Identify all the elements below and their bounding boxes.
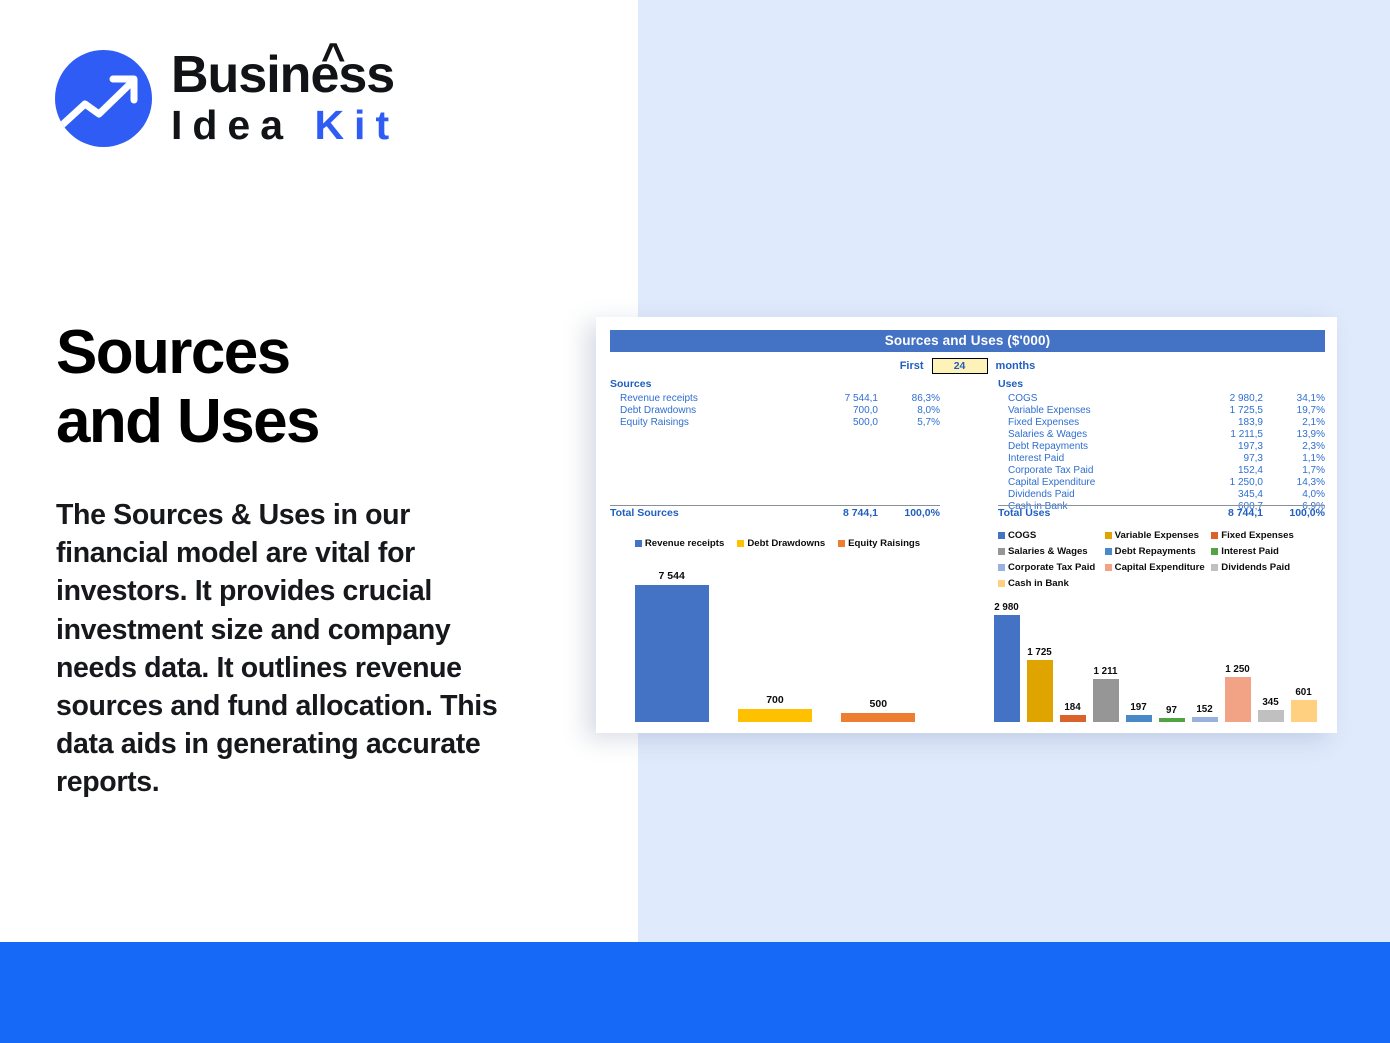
table-row: COGS2 980,234,1% xyxy=(998,393,1325,405)
bar[interactable] xyxy=(1258,710,1284,722)
sources-bars: 7 544700500 xyxy=(620,566,930,722)
bar-value-label: 2 980 xyxy=(994,602,1019,613)
brand-wordmark: Business ^ Idea Kit xyxy=(171,50,399,147)
bar-group: 500 xyxy=(827,566,930,722)
bar[interactable] xyxy=(841,713,915,722)
legend-label: Corporate Tax Paid xyxy=(1008,562,1095,573)
table-row: Fixed Expenses183,92,1% xyxy=(998,417,1325,429)
legend-item[interactable]: Corporate Tax Paid xyxy=(998,562,1105,573)
uses-bar-chart: 2 9801 7251841 211197971521 250345601 xyxy=(990,596,1320,722)
sources-total-pct: 100,0% xyxy=(878,507,940,519)
uses-total-pct: 100,0% xyxy=(1263,507,1325,519)
sources-total-value: 8 744,1 xyxy=(798,507,878,519)
table-row: Revenue receipts7 544,186,3% xyxy=(610,393,940,405)
bar-group: 184 xyxy=(1056,596,1089,722)
bar[interactable] xyxy=(738,709,812,722)
row-label: Salaries & Wages xyxy=(998,429,1183,440)
table-row: Capital Expenditure1 250,014,3% xyxy=(998,477,1325,489)
legend-label: Equity Raisings xyxy=(848,538,920,549)
uses-table: Uses COGS2 980,234,1%Variable Expenses1 … xyxy=(998,378,1325,513)
uses-total-label: Total Uses xyxy=(998,507,1183,519)
brand-line-2: Idea Kit xyxy=(171,104,399,147)
slide-root: Business ^ Idea Kit Sources and Uses The… xyxy=(0,0,1390,1043)
legend-label: COGS xyxy=(1008,530,1036,541)
bar-value-label: 152 xyxy=(1196,704,1212,715)
legend-item[interactable]: Interest Paid xyxy=(1211,546,1318,557)
row-percent: 13,9% xyxy=(1263,429,1325,440)
bar-group: 152 xyxy=(1188,596,1221,722)
legend-label: Interest Paid xyxy=(1221,546,1279,557)
row-percent: 2,1% xyxy=(1263,417,1325,428)
bar-group: 97 xyxy=(1155,596,1188,722)
legend-label: Cash in Bank xyxy=(1008,578,1069,589)
legend-swatch-icon xyxy=(635,540,642,547)
bar-value-label: 197 xyxy=(1130,702,1146,713)
sources-total-wrap: Total Sources 8 744,1 100,0% xyxy=(610,505,940,519)
brand-logo: Business ^ Idea Kit xyxy=(55,50,399,147)
legend-label: Debt Repayments xyxy=(1115,546,1196,557)
bar-group: 700 xyxy=(723,566,826,722)
table-row: Dividends Paid345,44,0% xyxy=(998,489,1325,501)
row-value: 97,3 xyxy=(1183,453,1263,464)
uses-total-row: Total Uses 8 744,1 100,0% xyxy=(998,505,1325,519)
hero-description: The Sources & Uses in our financial mode… xyxy=(56,496,526,802)
bar[interactable] xyxy=(1093,679,1119,722)
legend-label: Fixed Expenses xyxy=(1221,530,1294,541)
row-value: 1 250,0 xyxy=(1183,477,1263,488)
bar-value-label: 345 xyxy=(1262,697,1278,708)
legend-item[interactable]: Revenue receipts xyxy=(635,538,724,549)
legend-item[interactable]: Salaries & Wages xyxy=(998,546,1105,557)
uses-rows: COGS2 980,234,1%Variable Expenses1 725,5… xyxy=(998,393,1325,513)
brand-line-2-dark: Idea xyxy=(171,102,293,148)
row-label: Corporate Tax Paid xyxy=(998,465,1183,476)
legend-label: Debt Drawdowns xyxy=(747,538,825,549)
row-value: 1 725,5 xyxy=(1183,405,1263,416)
legend-swatch-icon xyxy=(1211,532,1218,539)
sources-chart-legend: Revenue receiptsDebt DrawdownsEquity Rai… xyxy=(634,538,934,549)
sources-bar-chart: 7 544700500 xyxy=(620,566,930,722)
legend-label: Salaries & Wages xyxy=(1008,546,1088,557)
circumflex-accent: ^ xyxy=(321,37,345,78)
sources-total-row: Total Sources 8 744,1 100,0% xyxy=(610,505,940,519)
row-value: 500,0 xyxy=(798,417,878,428)
table-row: Variable Expenses1 725,519,7% xyxy=(998,405,1325,417)
legend-label: Variable Expenses xyxy=(1115,530,1199,541)
bar-group: 7 544 xyxy=(620,566,723,722)
bar-value-label: 1 211 xyxy=(1094,666,1118,677)
months-input[interactable]: 24 xyxy=(932,358,988,374)
bar[interactable] xyxy=(1027,660,1053,722)
row-value: 345,4 xyxy=(1183,489,1263,500)
row-percent: 1,7% xyxy=(1263,465,1325,476)
table-row: Interest Paid97,31,1% xyxy=(998,453,1325,465)
row-label: Dividends Paid xyxy=(998,489,1183,500)
bar-group: 1 250 xyxy=(1221,596,1254,722)
legend-swatch-icon xyxy=(1105,564,1112,571)
bar-value-label: 97 xyxy=(1166,705,1177,716)
bar-group: 197 xyxy=(1122,596,1155,722)
legend-item[interactable]: COGS xyxy=(998,530,1105,541)
bar-value-label: 500 xyxy=(870,698,888,710)
legend-swatch-icon xyxy=(1105,548,1112,555)
uses-total-wrap: Total Uses 8 744,1 100,0% xyxy=(998,505,1325,519)
table-row: Debt Repayments197,32,3% xyxy=(998,441,1325,453)
bar[interactable] xyxy=(994,615,1020,722)
period-selector-row: First 24 months xyxy=(610,357,1325,375)
page-title-line-1: Sources xyxy=(56,318,576,387)
row-value: 152,4 xyxy=(1183,465,1263,476)
row-percent: 86,3% xyxy=(878,393,940,404)
bar-value-label: 1 725 xyxy=(1027,647,1052,658)
row-label: COGS xyxy=(998,393,1183,404)
legend-item[interactable]: Variable Expenses xyxy=(1105,530,1212,541)
legend-swatch-icon xyxy=(998,564,1005,571)
legend-swatch-icon xyxy=(1105,532,1112,539)
row-value: 700,0 xyxy=(798,405,878,416)
growth-arrow-icon xyxy=(55,50,152,147)
bar[interactable] xyxy=(1060,715,1086,722)
row-value: 183,9 xyxy=(1183,417,1263,428)
row-value: 2 980,2 xyxy=(1183,393,1263,404)
bar-group: 601 xyxy=(1287,596,1320,722)
uses-chart-legend: COGSVariable ExpensesFixed ExpensesSalar… xyxy=(998,530,1318,594)
sources-rows: Revenue receipts7 544,186,3%Debt Drawdow… xyxy=(610,393,940,429)
period-prefix-label: First xyxy=(900,360,924,372)
uses-bars: 2 9801 7251841 211197971521 250345601 xyxy=(990,596,1320,722)
row-label: Equity Raisings xyxy=(610,417,798,428)
legend-item[interactable]: Dividends Paid xyxy=(1211,562,1318,573)
bar-value-label: 700 xyxy=(766,694,784,706)
row-percent: 2,3% xyxy=(1263,441,1325,452)
brand-line-1-text: Business xyxy=(171,46,394,104)
uses-heading: Uses xyxy=(998,378,1325,390)
row-value: 1 211,5 xyxy=(1183,429,1263,440)
row-percent: 34,1% xyxy=(1263,393,1325,404)
row-value: 7 544,1 xyxy=(798,393,878,404)
bar-value-label: 601 xyxy=(1295,687,1311,698)
row-label: Variable Expenses xyxy=(998,405,1183,416)
sheet-title-bar: Sources and Uses ($'000) xyxy=(610,330,1325,352)
bar[interactable] xyxy=(1126,715,1152,722)
legend-swatch-icon xyxy=(1211,548,1218,555)
footer-accent-bar xyxy=(0,942,1390,1043)
brand-line-1: Business ^ xyxy=(171,50,399,101)
legend-label: Dividends Paid xyxy=(1221,562,1290,573)
table-row: Salaries & Wages1 211,513,9% xyxy=(998,429,1325,441)
sources-heading: Sources xyxy=(610,378,940,390)
table-row: Corporate Tax Paid152,41,7% xyxy=(998,465,1325,477)
bar[interactable] xyxy=(1192,717,1218,722)
bar-group: 345 xyxy=(1254,596,1287,722)
page-title: Sources and Uses xyxy=(56,318,576,457)
legend-swatch-icon xyxy=(998,580,1005,587)
bar-value-label: 184 xyxy=(1064,702,1080,713)
row-percent: 4,0% xyxy=(1263,489,1325,500)
uses-total-value: 8 744,1 xyxy=(1183,507,1263,519)
legend-item[interactable]: Capital Expenditure xyxy=(1105,562,1212,573)
bar-group: 1 725 xyxy=(1023,596,1056,722)
row-label: Capital Expenditure xyxy=(998,477,1183,488)
brand-line-2-accent: Kit xyxy=(314,102,399,148)
page-title-line-2: and Uses xyxy=(56,387,576,456)
bar-group: 1 211 xyxy=(1089,596,1122,722)
bar-group: 2 980 xyxy=(990,596,1023,722)
row-percent: 14,3% xyxy=(1263,477,1325,488)
row-percent: 5,7% xyxy=(878,417,940,428)
row-label: Revenue receipts xyxy=(610,393,798,404)
legend-swatch-icon xyxy=(998,532,1005,539)
period-suffix-label: months xyxy=(996,360,1036,372)
legend-item[interactable]: Cash in Bank xyxy=(998,578,1105,589)
legend-swatch-icon xyxy=(737,540,744,547)
row-label: Fixed Expenses xyxy=(998,417,1183,428)
table-row: Equity Raisings500,05,7% xyxy=(610,417,940,429)
legend-swatch-icon xyxy=(838,540,845,547)
bar[interactable] xyxy=(1225,677,1251,722)
sources-total-label: Total Sources xyxy=(610,507,798,519)
legend-item[interactable]: Equity Raisings xyxy=(838,538,920,549)
bar[interactable] xyxy=(1291,700,1317,722)
row-percent: 8,0% xyxy=(878,405,940,416)
row-percent: 19,7% xyxy=(1263,405,1325,416)
legend-item[interactable]: Fixed Expenses xyxy=(1211,530,1318,541)
sources-table: Sources Revenue receipts7 544,186,3%Debt… xyxy=(610,378,940,429)
table-row: Debt Drawdowns700,08,0% xyxy=(610,405,940,417)
row-label: Debt Repayments xyxy=(998,441,1183,452)
row-label: Interest Paid xyxy=(998,453,1183,464)
legend-label: Capital Expenditure xyxy=(1115,562,1205,573)
legend-swatch-icon xyxy=(998,548,1005,555)
bar-value-label: 7 544 xyxy=(659,570,685,582)
bar[interactable] xyxy=(635,585,709,722)
legend-item[interactable]: Debt Repayments xyxy=(1105,546,1212,557)
bar[interactable] xyxy=(1159,718,1185,722)
bar-value-label: 1 250 xyxy=(1225,664,1250,675)
row-label: Debt Drawdowns xyxy=(610,405,798,416)
legend-swatch-icon xyxy=(1211,564,1218,571)
legend-item[interactable]: Debt Drawdowns xyxy=(737,538,825,549)
legend-label: Revenue receipts xyxy=(645,538,724,549)
row-value: 197,3 xyxy=(1183,441,1263,452)
row-percent: 1,1% xyxy=(1263,453,1325,464)
